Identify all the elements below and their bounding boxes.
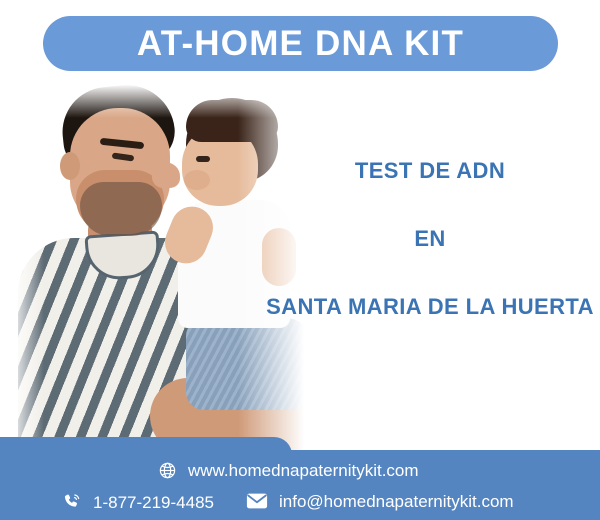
photo-man-beard (80, 182, 162, 236)
photo-man-ear (60, 152, 80, 180)
envelope-icon (246, 492, 268, 510)
globe-icon (158, 461, 177, 480)
photo-fade-top (0, 78, 330, 118)
headline-line-test-de-adn: TEST DE ADN (250, 160, 600, 182)
photo-child-cheek (184, 170, 210, 190)
footer-bar: www.homednapaternitykit.com 1-877-219-44… (0, 437, 600, 520)
poster-canvas: AT-HOME DNA KIT TEST DE ADN EN SANTA MAR… (0, 0, 600, 520)
phone-number-text: 1-877-219-4485 (93, 494, 214, 511)
phone-icon (62, 492, 82, 512)
email-address-text: info@homednapaternitykit.com (279, 493, 514, 510)
footer-contact-group: www.homednapaternitykit.com 1-877-219-44… (0, 437, 600, 520)
headline-line-en: EN (250, 228, 600, 250)
footer-website-row[interactable]: www.homednapaternitykit.com (158, 461, 419, 480)
headline-line-city: SANTA MARIA DE LA HUERTA (250, 296, 600, 318)
location-headline-block: TEST DE ADN EN SANTA MARIA DE LA HUERTA (250, 160, 600, 318)
photo-man-nose (152, 162, 180, 188)
photo-fade-left (0, 78, 44, 450)
photo-child-eye (196, 156, 210, 162)
footer-phone-row[interactable]: 1-877-219-4485 (62, 492, 214, 512)
headline-title: AT-HOME DNA KIT (137, 26, 464, 61)
headline-banner: AT-HOME DNA KIT (43, 16, 558, 71)
website-url-text: www.homednapaternitykit.com (188, 462, 419, 479)
footer-email-row[interactable]: info@homednapaternitykit.com (246, 492, 514, 510)
